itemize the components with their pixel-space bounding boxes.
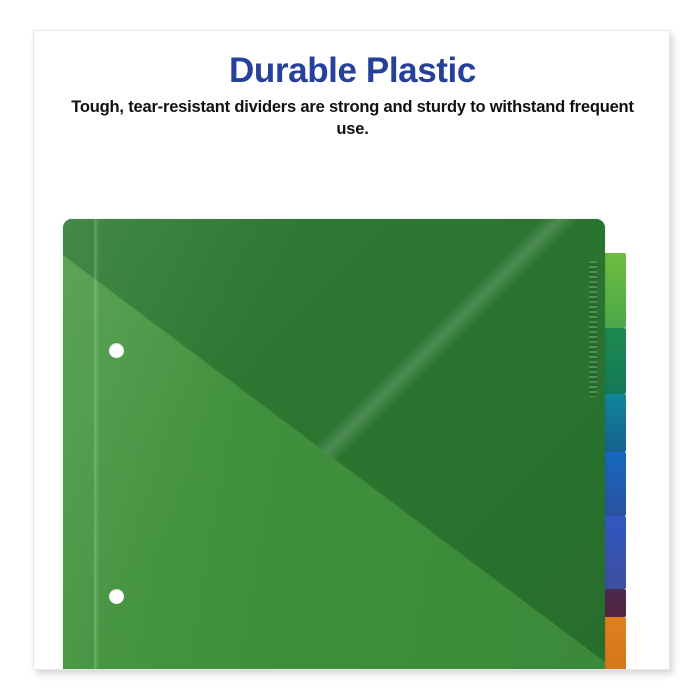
product-card: Durable Plastic Tough, tear-resistant di…: [33, 30, 670, 670]
page-title: Durable Plastic: [34, 51, 670, 90]
page-subtitle: Tough, tear-resistant dividers are stron…: [58, 97, 647, 141]
product-photo: [34, 159, 670, 670]
divider-ribbed-edge: [589, 261, 597, 397]
hole-punch-bottom: [109, 589, 124, 604]
headline-block: Durable Plastic Tough, tear-resistant di…: [34, 51, 670, 141]
green-pocket-divider: [63, 219, 605, 670]
product-image-stage: Durable Plastic Tough, tear-resistant di…: [0, 0, 700, 700]
divider-binding-edge: [94, 219, 99, 670]
hole-punch-top: [109, 343, 124, 358]
